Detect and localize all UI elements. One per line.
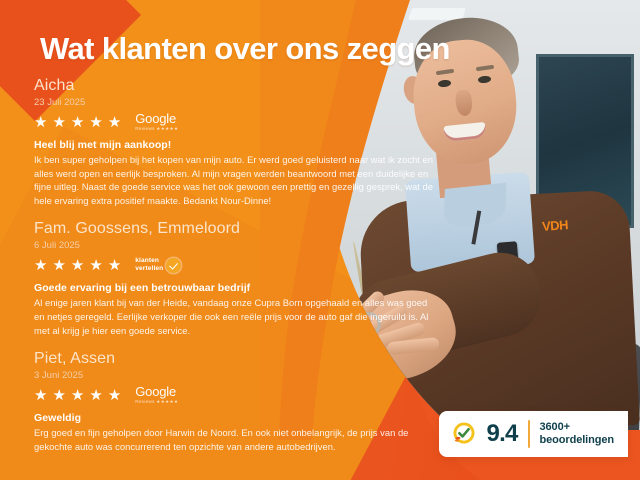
review-body: Erg goed en fijn geholpen door Harwin de…	[34, 426, 434, 453]
review-headline: Geweldig	[34, 412, 434, 424]
rating-score: 9.4	[487, 422, 518, 446]
star-rating: ★★★★★	[34, 388, 121, 403]
star-icon: ★	[89, 258, 102, 273]
review-date: 6 Juli 2025	[34, 239, 434, 252]
review-meta: ★★★★★ klanten vertellen	[34, 255, 434, 275]
vdh-logo: VDH	[542, 217, 569, 234]
klantenvertellen-badge: klanten vertellen	[135, 257, 181, 273]
review-meta: ★★★★★ Google Reviews ★★★★★	[34, 385, 434, 405]
google-reviews-sublabel: Reviews ★★★★★	[135, 399, 191, 405]
star-icon: ★	[71, 388, 84, 403]
star-icon: ★	[108, 258, 121, 273]
review-headline: Goede ervaring bij een betrouwbaar bedri…	[34, 282, 434, 294]
star-icon: ★	[52, 258, 65, 273]
review-meta: ★★★★★ Google Reviews ★★★★★	[34, 112, 434, 132]
reviews-list: Aicha 23 Juli 2025 ★★★★★ Google Reviews …	[34, 76, 434, 465]
review-date: 23 Juli 2025	[34, 96, 434, 109]
page-title: Wat klanten over ons zeggen	[40, 31, 450, 67]
star-icon: ★	[34, 115, 47, 130]
divider	[528, 420, 530, 448]
star-icon: ★	[52, 388, 65, 403]
google-reviews-badge: Google Reviews ★★★★★	[135, 112, 191, 132]
klantenvertellen-check-logo-icon	[451, 421, 477, 447]
star-icon: ★	[71, 115, 84, 130]
star-icon: ★	[52, 115, 65, 130]
reviewer-name: Aicha	[34, 76, 434, 95]
google-reviews-badge: Google Reviews ★★★★★	[135, 385, 191, 405]
klantenvertellen-wordmark: klanten vertellen	[135, 257, 163, 273]
star-icon: ★	[71, 258, 84, 273]
klantenvertellen-line2: vertellen	[135, 265, 163, 273]
review-item: Fam. Goossens, Emmeloord 6 Juli 2025 ★★★…	[34, 219, 434, 337]
customer-reviews-banner: VDH Wat klanten over ons zeggen Aicha 23…	[0, 0, 640, 480]
star-icon: ★	[89, 388, 102, 403]
review-body: Ik ben super geholpen bij het kopen van …	[34, 153, 434, 207]
google-wordmark: Google	[135, 385, 191, 399]
review-date: 3 Juni 2025	[34, 369, 434, 382]
review-item: Piet, Assen 3 Juni 2025 ★★★★★ Google Rev…	[34, 349, 434, 453]
reviewer-name: Piet, Assen	[34, 349, 434, 368]
review-item: Aicha 23 Juli 2025 ★★★★★ Google Reviews …	[34, 76, 434, 207]
reviewer-name: Fam. Goossens, Emmeloord	[34, 219, 434, 238]
star-rating: ★★★★★	[34, 115, 121, 130]
review-headline: Heel blij met mijn aankoop!	[34, 139, 434, 151]
rating-count-label: beoordelingen	[540, 434, 614, 447]
star-icon: ★	[89, 115, 102, 130]
star-icon: ★	[108, 388, 121, 403]
klantenvertellen-line1: klanten	[135, 257, 163, 265]
rating-count: 3600+	[540, 421, 614, 434]
star-icon: ★	[34, 388, 47, 403]
star-rating: ★★★★★	[34, 258, 121, 273]
check-circle-icon	[166, 258, 181, 273]
review-body: Al enige jaren klant bij van der Heide, …	[34, 296, 434, 337]
google-reviews-sublabel: Reviews ★★★★★	[135, 126, 191, 132]
google-wordmark: Google	[135, 112, 191, 126]
rating-count-block: 3600+ beoordelingen	[540, 421, 614, 447]
star-icon: ★	[108, 115, 121, 130]
star-icon: ★	[34, 258, 47, 273]
overall-rating-badge[interactable]: 9.4 3600+ beoordelingen	[439, 411, 628, 457]
